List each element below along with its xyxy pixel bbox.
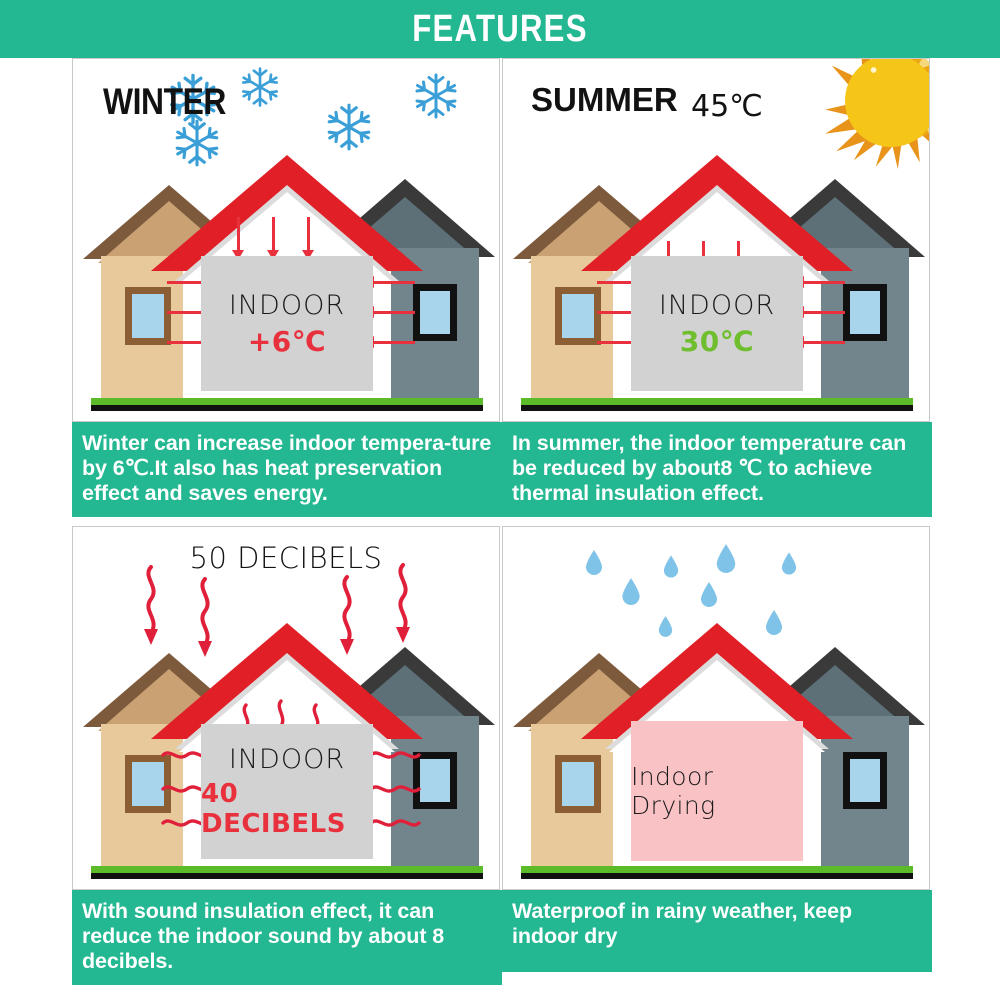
panel-grid: WINTER	[0, 58, 1000, 1000]
ground-base	[91, 873, 483, 879]
panel-waterproof-caption: Waterproof in rainy weather, keep indoor…	[502, 890, 932, 972]
left-house-window	[555, 755, 601, 813]
right-house-window	[413, 284, 457, 341]
sound-wave-icon	[369, 815, 421, 836]
indoor-label: INDOOR	[229, 744, 345, 775]
ground-grass	[521, 866, 913, 873]
heat-arrow-left	[803, 311, 845, 314]
ground-base	[521, 405, 913, 411]
indoor-box: Indoor Drying	[631, 721, 803, 861]
ground-base	[521, 873, 913, 879]
panel-waterproof-illustration: Indoor Drying	[502, 526, 930, 890]
panel-winter: WINTER	[72, 58, 502, 517]
indoor-label: INDOOR	[659, 290, 775, 321]
indoor-drying-label: Indoor Drying	[631, 762, 803, 820]
ground-grass	[91, 866, 483, 873]
left-house-window	[125, 287, 171, 345]
heat-arrow-down	[307, 217, 310, 251]
left-house-window	[555, 287, 601, 345]
heat-arrow-left	[373, 311, 415, 314]
panel-sound-illustration: 50 DECIBELS	[72, 526, 500, 890]
indoor-box: INDOOR +6℃	[201, 256, 373, 391]
panel-summer-caption: In summer, the indoor temperature can be…	[502, 422, 932, 517]
heat-arrow-left	[803, 281, 845, 284]
page-title: FEATURES	[412, 8, 587, 51]
sound-wave-icon	[369, 781, 421, 802]
right-house-window	[843, 752, 887, 809]
heat-arrow-left	[373, 341, 415, 344]
heat-arrow-down	[272, 217, 275, 251]
ground-grass	[521, 398, 913, 405]
header-bar: FEATURES	[0, 0, 1000, 58]
heat-arrow-down	[237, 217, 240, 251]
panel-sound-caption: With sound insulation effect, it can red…	[72, 890, 502, 985]
right-house-window	[843, 284, 887, 341]
indoor-temperature-value: +6℃	[248, 325, 326, 358]
ground-base	[91, 405, 483, 411]
panel-sound: 50 DECIBELS	[72, 526, 502, 985]
heat-arrow-left	[803, 341, 845, 344]
indoor-box: INDOOR 30℃	[631, 256, 803, 391]
indoor-decibel-value: 40 DECIBELS	[201, 779, 373, 839]
panel-winter-illustration: WINTER	[72, 58, 500, 422]
heat-arrow-left	[373, 281, 415, 284]
panel-winter-caption: Winter can increase indoor tempera-ture …	[72, 422, 502, 517]
infographic-page: FEATURES	[0, 0, 1000, 1000]
indoor-label: INDOOR	[229, 290, 345, 321]
panel-summer: SUMMER 45℃ 38℃	[502, 58, 932, 517]
indoor-box: INDOOR 40 DECIBELS	[201, 724, 373, 859]
ground-grass	[91, 398, 483, 405]
sound-wave-icon	[369, 747, 421, 768]
panel-summer-illustration: SUMMER 45℃ 38℃	[502, 58, 930, 422]
panel-waterproof: Indoor Drying Waterproof in rainy weathe…	[502, 526, 932, 972]
indoor-temperature-value: 30℃	[680, 325, 754, 358]
